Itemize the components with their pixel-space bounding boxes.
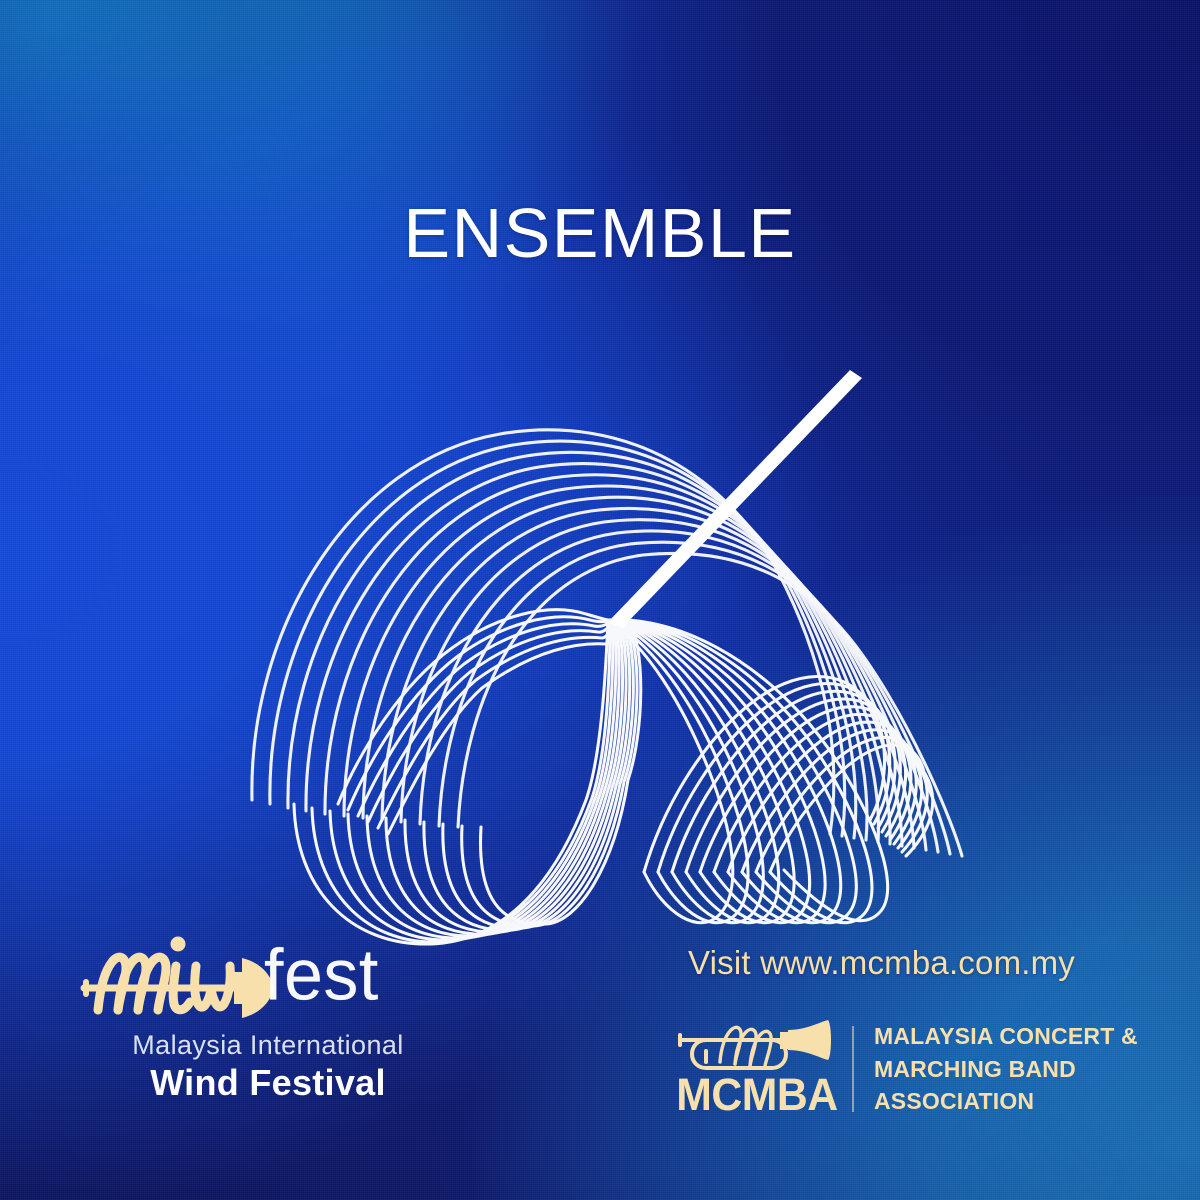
conductor-baton-wave-artwork (230, 330, 990, 860)
miwfest-subtitle-line2: Wind Festival (78, 1065, 458, 1101)
trumpet-bell-shape (788, 1020, 831, 1060)
page-title: ENSEMBLE (0, 198, 1200, 268)
miwfest-logo: fest Malaysia International Wind Festiva… (78, 936, 458, 1116)
mcmba-acronym: MCMBA (676, 1072, 836, 1117)
fest-wordmark: fest (264, 938, 379, 1011)
poster-canvas: ENSEMBLE (0, 0, 1200, 1200)
miwfest-subtitle-line1: Malaysia International (78, 1032, 458, 1059)
wave-lines-svg (230, 330, 990, 860)
trumpet-svg (676, 1018, 836, 1076)
mcmba-mark: MCMBA (672, 1018, 840, 1120)
mcmba-full-name: MALAYSIA CONCERT & MARCHING BAND ASSOCIA… (874, 1020, 1138, 1118)
trumpet-icon (676, 1018, 836, 1076)
mcmba-divider (852, 1026, 854, 1112)
miwfest-wordmark-row: fest (78, 936, 458, 1022)
mcmba-logo: MCMBA MALAYSIA CONCERT & MARCHING BAND A… (672, 1018, 1138, 1120)
visit-website-text[interactable]: Visit www.mcmba.com.my (688, 946, 1075, 979)
